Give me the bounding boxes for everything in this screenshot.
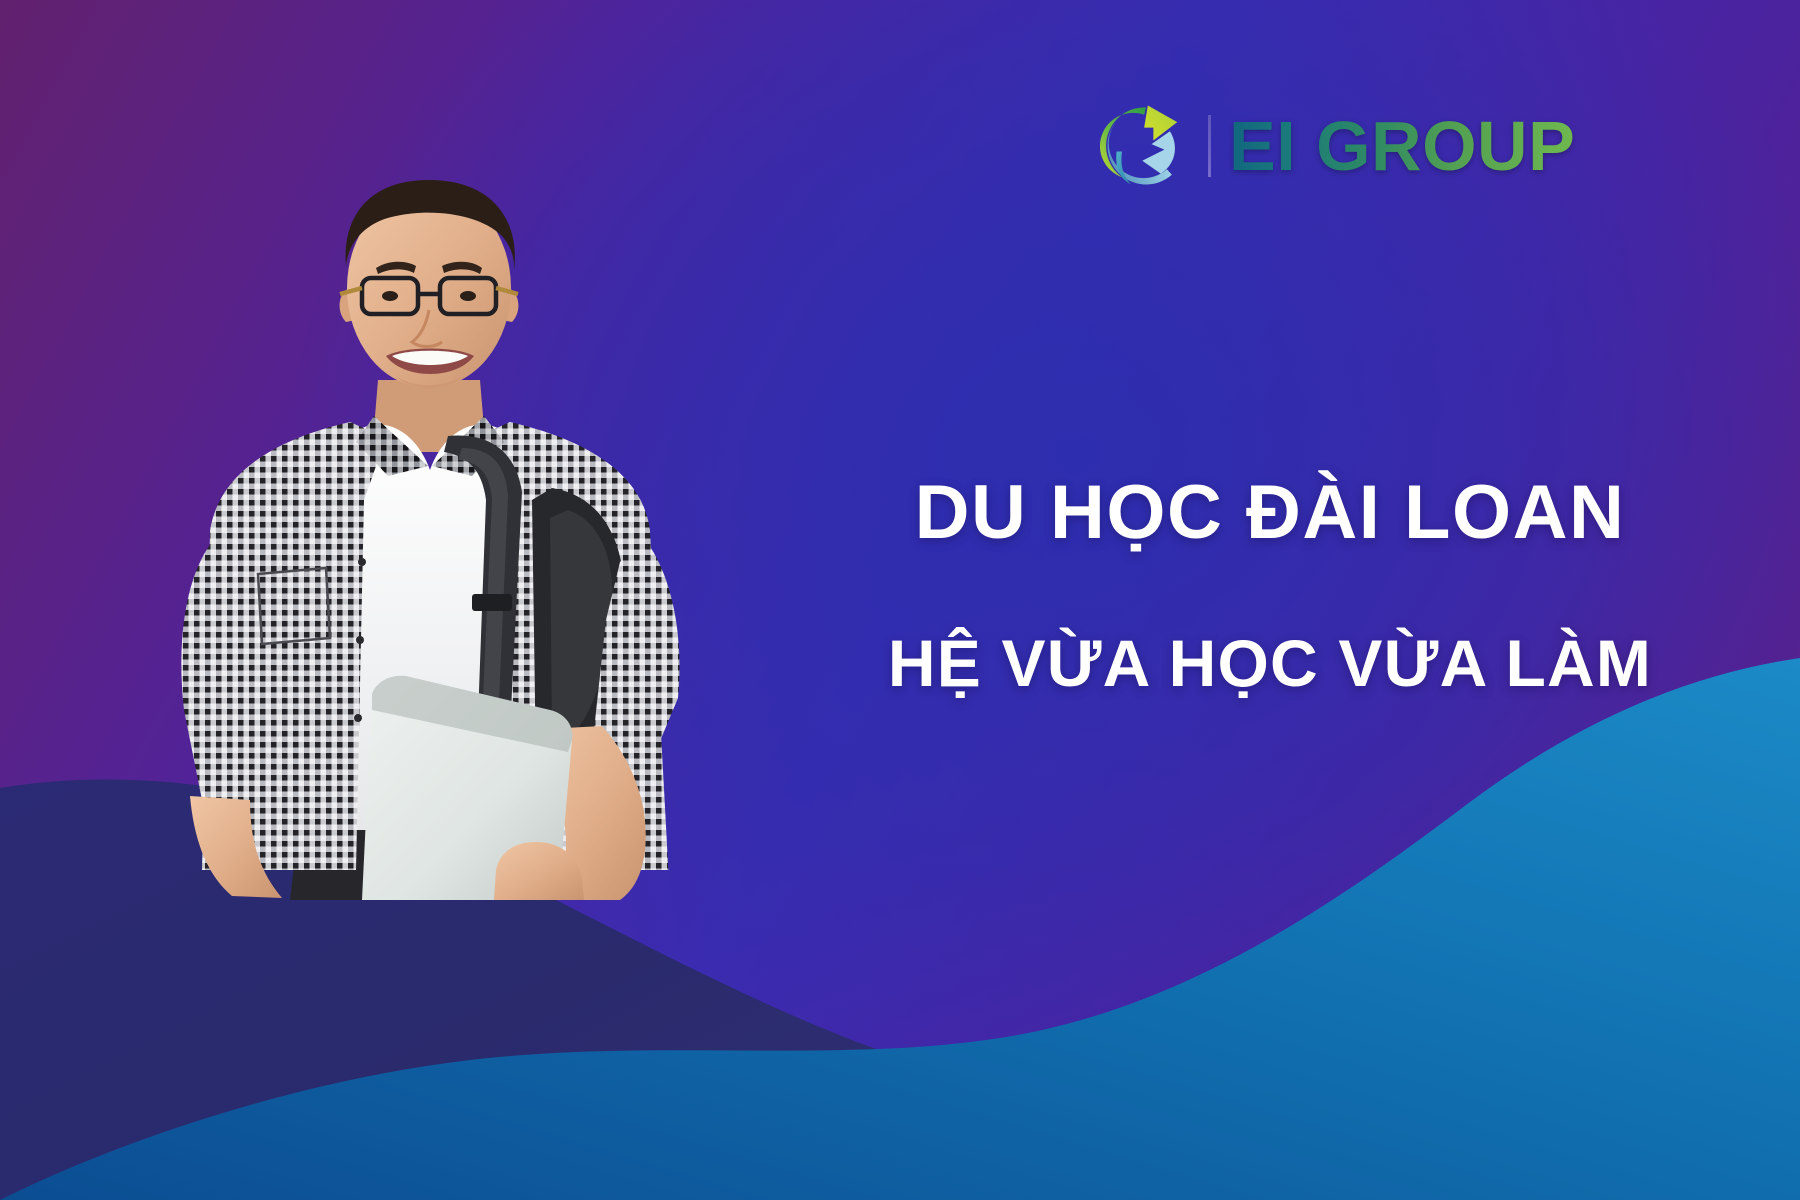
logo-ring-green [1100,107,1146,177]
headline-line-1: DU HỌC ĐÀI LOAN [830,472,1710,554]
logo-divider [1208,115,1211,177]
logo-swoosh-light [1142,131,1175,173]
brand-logo-lockup[interactable]: EI GROUP [1100,98,1575,194]
banner-canvas: EI GROUP DU HỌC ĐÀI LOAN HỆ VỪA HỌC VỪA … [0,0,1800,1200]
brand-name: EI GROUP [1229,111,1575,181]
student-illustration [150,170,710,900]
student-photo [150,170,710,900]
circular-g-swoosh-logo-icon [1100,100,1192,192]
headline-line-2: HỆ VỪA HỌC VỪA LÀM [830,628,1710,699]
head [340,180,519,388]
headline-block: DU HỌC ĐÀI LOAN HỆ VỪA HỌC VỪA LÀM [830,472,1710,699]
strap-buckle-upper [472,594,512,611]
eye-left [382,291,398,301]
logo-arrow-lime [1144,106,1177,141]
eye-right [460,291,476,301]
